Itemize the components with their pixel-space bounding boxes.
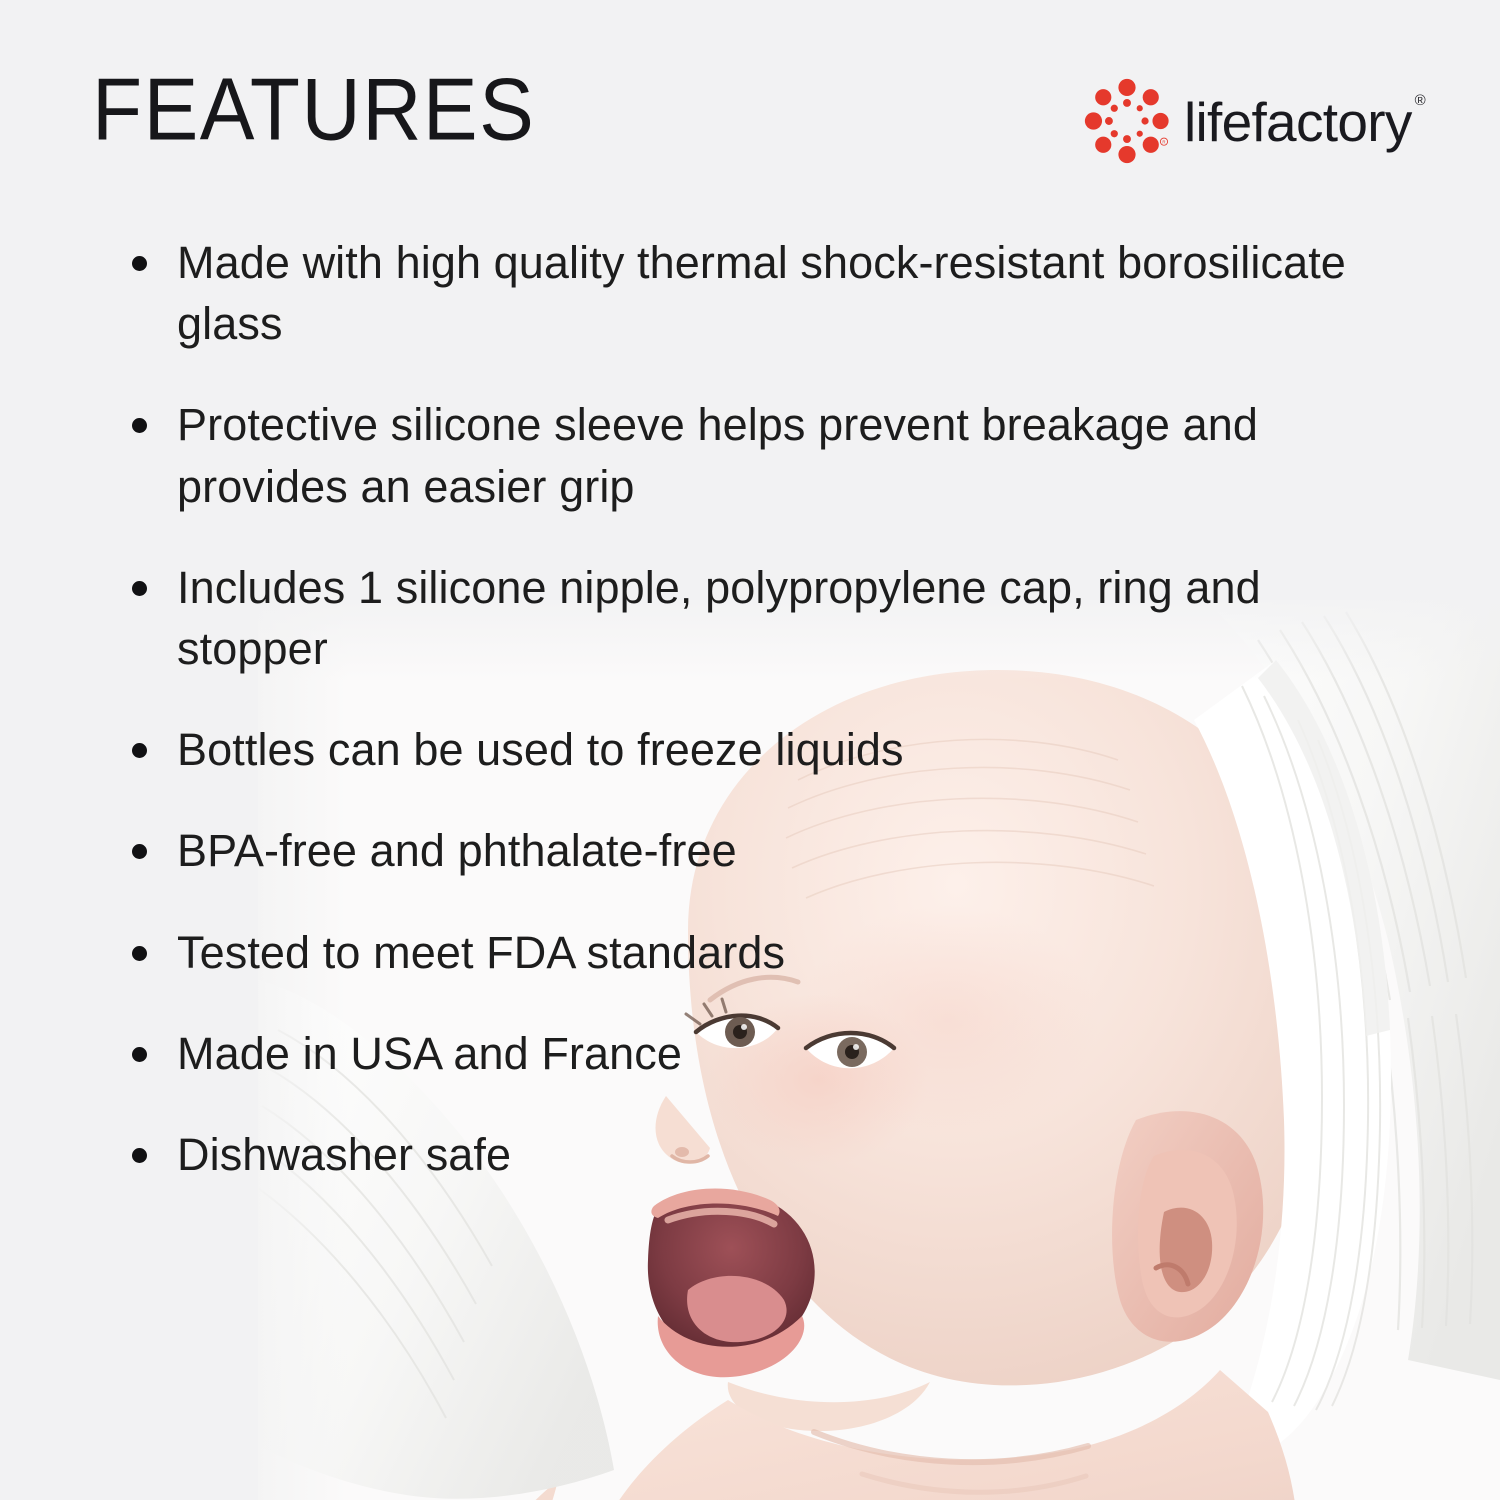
list-item: Bottles can be used to freeze liquids	[120, 719, 1420, 780]
list-item: Made in USA and France	[120, 1023, 1420, 1084]
page-title: FEATURES	[92, 66, 535, 155]
features-list: Made with high quality thermal shock-res…	[120, 232, 1420, 1185]
feature-text: Made with high quality thermal shock-res…	[177, 232, 1420, 354]
bullet-icon	[132, 418, 147, 433]
feature-text: Dishwasher safe	[177, 1124, 1420, 1185]
list-item: BPA-free and phthalate-free	[120, 820, 1420, 881]
list-item: Includes 1 silicone nipple, polypropylen…	[120, 557, 1420, 679]
feature-text: BPA-free and phthalate-free	[177, 820, 1420, 881]
bullet-icon	[132, 256, 147, 271]
feature-text: Tested to meet FDA standards	[177, 922, 1420, 983]
brand-wordmark: lifefactory®	[1184, 95, 1422, 150]
bullet-icon	[132, 743, 147, 758]
registered-trademark-icon: ®	[1415, 92, 1425, 109]
bullet-icon	[132, 581, 147, 596]
brand-name: lifefactory	[1184, 91, 1412, 153]
list-item: Dishwasher safe	[120, 1124, 1420, 1185]
feature-text: Made in USA and France	[177, 1023, 1420, 1084]
svg-text:R: R	[1162, 140, 1165, 145]
feature-text: Includes 1 silicone nipple, polypropylen…	[177, 557, 1420, 679]
bullet-icon	[132, 946, 147, 961]
bullet-icon	[132, 1047, 147, 1062]
feature-text: Bottles can be used to freeze liquids	[177, 719, 1420, 780]
list-item: Tested to meet FDA standards	[120, 922, 1420, 983]
list-item: Made with high quality thermal shock-res…	[120, 232, 1420, 354]
brand-logo: R lifefactory®	[1084, 78, 1422, 164]
bullet-icon	[132, 844, 147, 859]
features-page: FEATURES	[0, 0, 1500, 1500]
list-item: Protective silicone sleeve helps prevent…	[120, 394, 1420, 516]
lifefactory-dot-ring-icon: R	[1084, 78, 1170, 164]
feature-text: Protective silicone sleeve helps prevent…	[177, 394, 1420, 516]
bullet-icon	[132, 1148, 147, 1163]
